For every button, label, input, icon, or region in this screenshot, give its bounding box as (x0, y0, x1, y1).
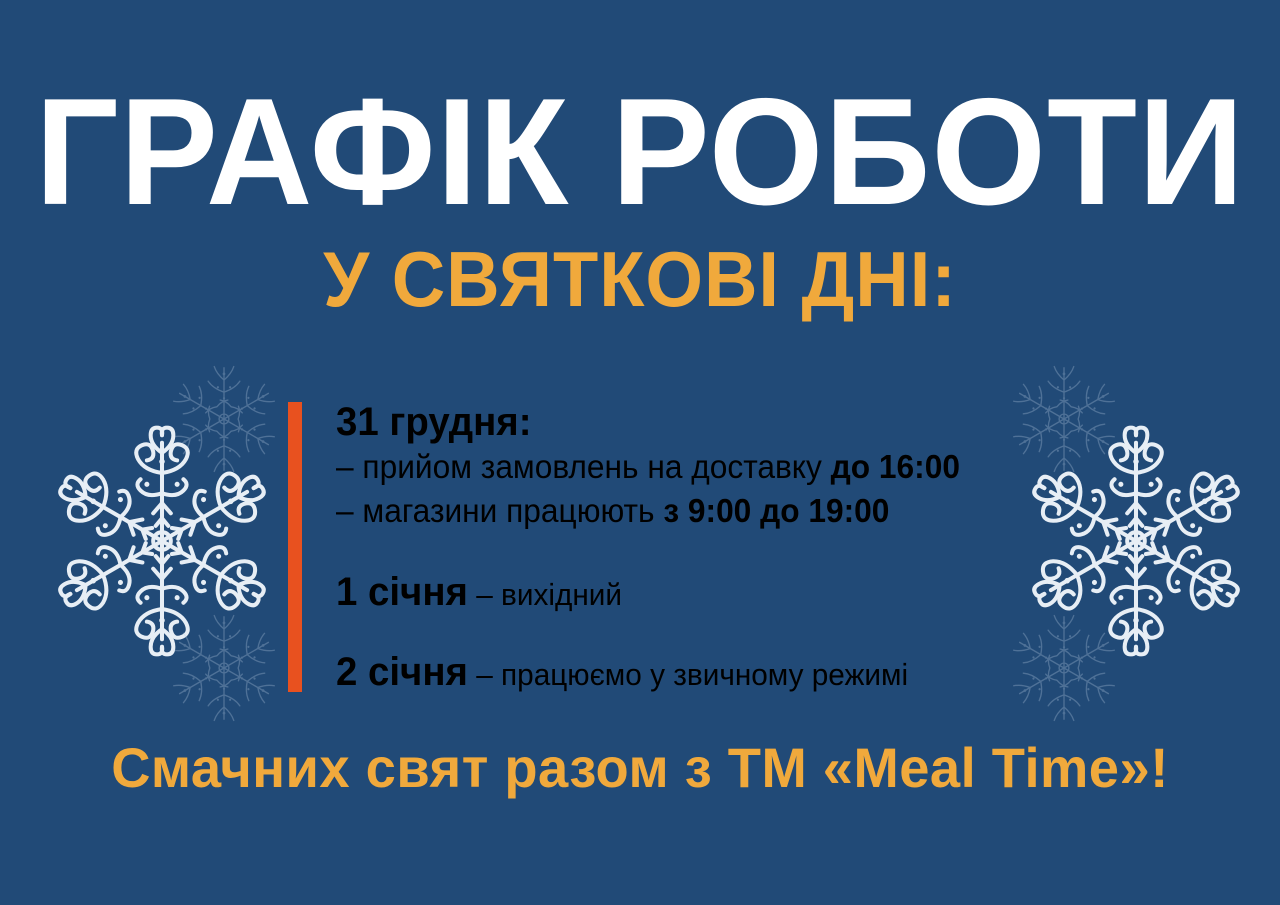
snowflake-icon (1010, 415, 1262, 667)
december-line-delivery: – прийом замовлень на доставку до 16:00 (336, 445, 989, 490)
december-line-stores-text: – магазини працюють (336, 492, 663, 529)
january-2-note: – працюємо у звичному режимі (468, 657, 908, 692)
december-delivery-time: до 16:00 (831, 448, 960, 485)
accent-bar (288, 402, 302, 692)
december-line-delivery-text: – прийом замовлень на доставку (336, 448, 831, 485)
snowflake-icon (1003, 358, 1125, 480)
snowflake-icon (163, 607, 285, 729)
december-heading: 31 грудня: (336, 400, 989, 445)
schedule-group-january-1: 1 січня – вихідний (336, 570, 989, 615)
december-line-stores: – магазини працюють з 9:00 до 19:00 (336, 489, 989, 534)
page-subtitle: У СВЯТКОВІ ДНІ: (32, 240, 1248, 318)
snowflake-icon (163, 358, 285, 480)
december-stores-time: з 9:00 до 19:00 (663, 492, 889, 529)
january-2-date: 2 січня (336, 650, 468, 694)
holiday-schedule-poster: ГРАФІК РОБОТИ У СВЯТКОВІ ДНІ: 31 грудня:… (0, 0, 1280, 905)
footer-tagline: Смачних свят разом з ТМ «Meal Time»! (19, 735, 1261, 800)
january-1-note: – вихідний (468, 577, 622, 612)
january-1-date: 1 січня (336, 570, 468, 614)
page-title: ГРАФІК РОБОТИ (19, 80, 1261, 226)
headline-block: ГРАФІК РОБОТИ У СВЯТКОВІ ДНІ: (0, 80, 1280, 318)
schedule-group-january-2: 2 січня – працюємо у звичному режимі (336, 650, 989, 695)
schedule-block: 31 грудня: – прийом замовлень на доставк… (288, 402, 988, 692)
schedule-group-december: 31 грудня: – прийом замовлень на доставк… (336, 400, 1016, 534)
snowflake-icon (36, 415, 288, 667)
snowflake-icon (1003, 607, 1125, 729)
